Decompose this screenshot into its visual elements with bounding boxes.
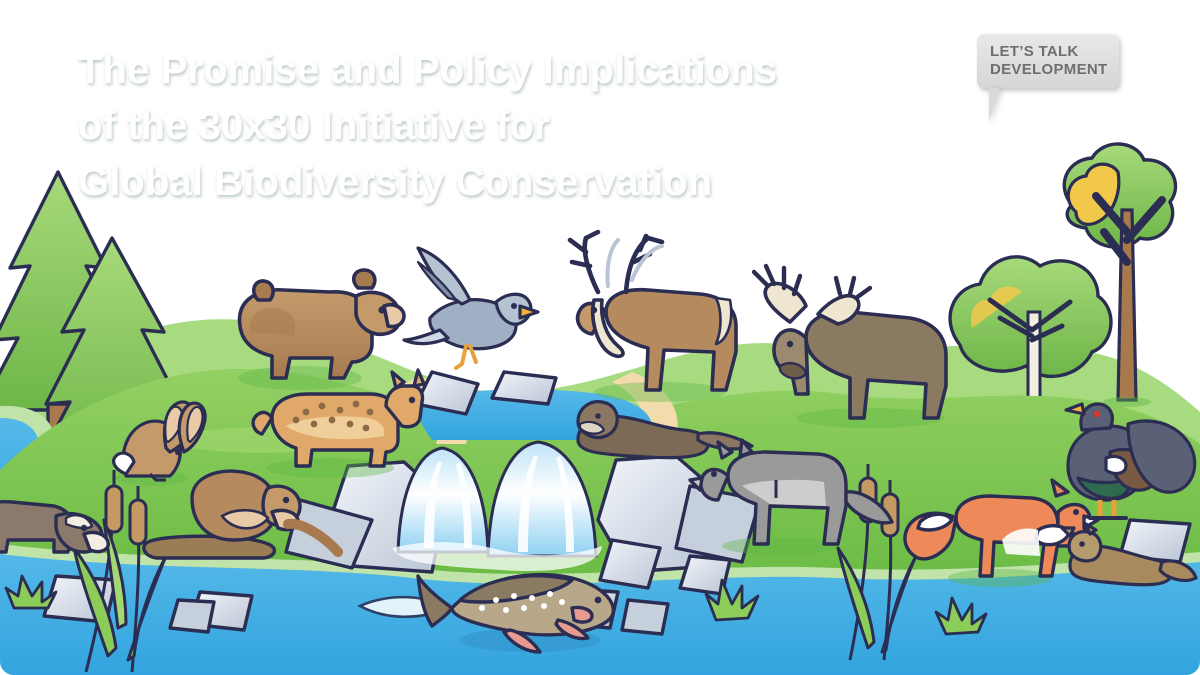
- hero-banner: The Promise and Policy Implications of t…: [0, 0, 1200, 675]
- illustration-foreground: [0, 0, 1200, 675]
